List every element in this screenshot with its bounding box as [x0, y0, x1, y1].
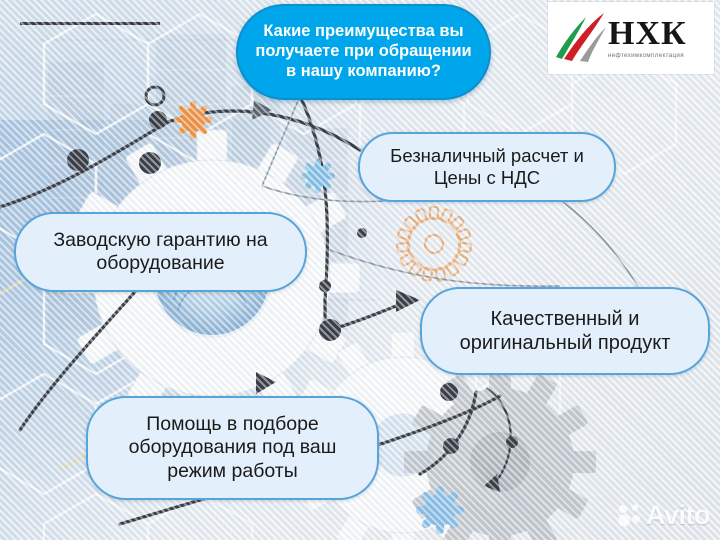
node-dot [440, 383, 458, 401]
node-dot [319, 280, 331, 292]
benefit-callout-vat: Безналичный расчет и Цены с НДС [358, 132, 616, 202]
orange-starburst [174, 101, 212, 139]
benefit-text-help: Помощь в подборе оборудования под ваш ре… [100, 413, 365, 483]
node-dot [319, 319, 341, 341]
node-dot [357, 228, 367, 238]
arrow-down-left [256, 372, 276, 394]
logo-wordmark: НХК нефтехимкомплектация [608, 17, 687, 60]
nhk-swoosh-icon [550, 7, 612, 69]
blue-starburst-small [301, 159, 335, 193]
promo-banner: Какие преимущества вы получаете при обра… [0, 0, 720, 540]
node-dot [506, 436, 518, 448]
arrow-right-top [252, 100, 272, 120]
logo-name: НХК [608, 17, 687, 51]
logo-tagline: нефтехимкомплектация [608, 52, 687, 60]
benefit-text-warranty: Заводскую гарантию на оборудование [28, 229, 293, 276]
company-logo: НХК нефтехимкомплектация [548, 2, 714, 74]
question-callout: Какие преимущества вы получаете при обра… [236, 4, 491, 100]
benefit-callout-quality: Качественный и оригинальный продукт [420, 287, 710, 375]
avito-dots-icon [617, 503, 643, 527]
arrow-curve-bottom-right [484, 474, 500, 492]
benefit-text-vat: Безналичный расчет и Цены с НДС [370, 145, 604, 189]
blue-starburst [416, 486, 464, 534]
arrow-right-middle [396, 290, 420, 312]
node-dot [139, 152, 161, 174]
node-dot [443, 438, 459, 454]
node-dot [67, 149, 89, 171]
benefit-callout-warranty: Заводскую гарантию на оборудование [14, 212, 307, 292]
benefit-text-quality: Качественный и оригинальный продукт [432, 307, 698, 355]
benefit-callout-help: Помощь в подборе оборудования под ваш ре… [86, 396, 379, 500]
avito-watermark: Avito [617, 498, 710, 532]
avito-wordmark: Avito [646, 502, 710, 529]
node-dot [149, 111, 167, 129]
node-ring [146, 87, 164, 105]
question-text: Какие преимущества вы получаете при обра… [250, 22, 477, 81]
